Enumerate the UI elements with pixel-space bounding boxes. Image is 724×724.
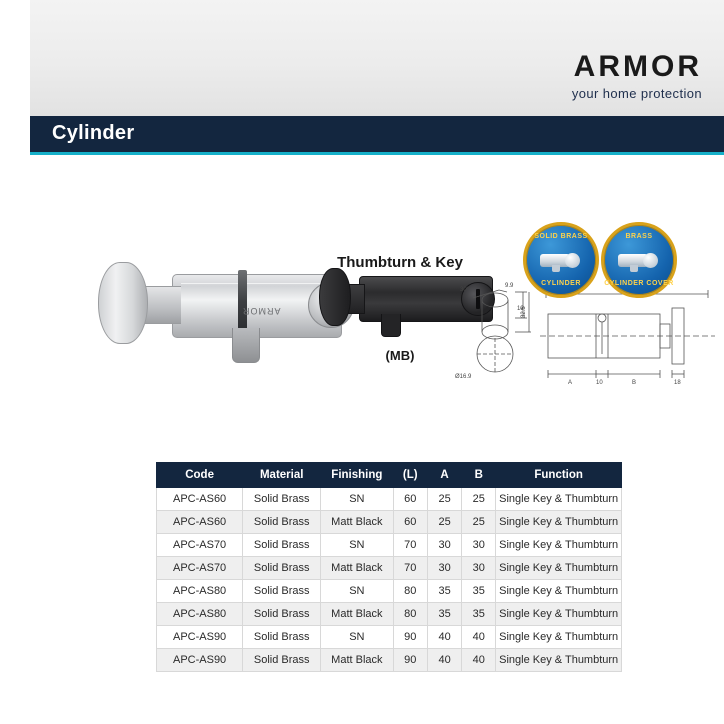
cell-function: Single Key & Thumbturn <box>496 534 622 557</box>
table-row: APC-AS90 Solid Brass SN 90 40 40 Single … <box>157 626 622 649</box>
cylinder-engraving: ARMOR <box>242 306 281 316</box>
cell-finishing: Matt Black <box>321 603 393 626</box>
cell-length: 70 <box>393 534 428 557</box>
technical-drawing-section: 30° 9.9 19 32.5 Ø16.9 <box>455 278 535 408</box>
cell-b: 25 <box>462 488 496 511</box>
cell-code: APC-AS70 <box>157 534 243 557</box>
cell-code: APC-AS60 <box>157 488 243 511</box>
thumbturn-knob-mb <box>319 268 351 326</box>
table-row: APC-AS70 Solid Brass Matt Black 70 30 30… <box>157 557 622 580</box>
thumbturn-knob <box>98 262 148 344</box>
table-row: APC-AS80 Solid Brass SN 80 35 35 Single … <box>157 580 622 603</box>
cell-a: 25 <box>428 511 462 534</box>
badge-top-text: BRASS <box>604 233 674 240</box>
badge-brass-cylinder-cover: BRASS CYLINDER COVER <box>601 222 677 298</box>
cell-material: Solid Brass <box>243 488 321 511</box>
cell-finishing: Matt Black <box>321 649 393 672</box>
cell-length: 80 <box>393 580 428 603</box>
column-header-material: Material <box>243 463 321 488</box>
cell-function: Single Key & Thumbturn <box>496 511 622 534</box>
cell-material: Solid Brass <box>243 534 321 557</box>
cell-b: 30 <box>462 557 496 580</box>
cell-function: Single Key & Thumbturn <box>496 626 622 649</box>
page-title: Cylinder <box>52 122 134 145</box>
cell-length: 90 <box>393 626 428 649</box>
dim-10: 10 <box>596 380 603 386</box>
cell-a: 40 <box>428 649 462 672</box>
table-row: APC-AS60 Solid Brass Matt Black 60 25 25… <box>157 511 622 534</box>
dim-32-5: 32.5 <box>521 306 527 318</box>
brand-name: ARMOR <box>572 52 702 82</box>
cell-a: 35 <box>428 580 462 603</box>
cell-code: APC-AS80 <box>157 580 243 603</box>
cell-finishing: SN <box>321 580 393 603</box>
dim-diameter: Ø16.9 <box>455 374 472 380</box>
table-header-row: Code Material Finishing (L) A B Function <box>157 463 622 488</box>
cell-finishing: Matt Black <box>321 557 393 580</box>
table-row: APC-AS60 Solid Brass SN 60 25 25 Single … <box>157 488 622 511</box>
cell-b: 25 <box>462 511 496 534</box>
cell-b: 35 <box>462 580 496 603</box>
cell-code: APC-AS80 <box>157 603 243 626</box>
cell-material: Solid Brass <box>243 557 321 580</box>
badge-bottom-text: CYLINDER COVER <box>604 280 674 287</box>
cell-material: Solid Brass <box>243 603 321 626</box>
dim-18: 18 <box>674 380 681 386</box>
table-row: APC-AS90 Solid Brass Matt Black 90 40 40… <box>157 649 622 672</box>
cell-a: 30 <box>428 534 462 557</box>
cell-b: 40 <box>462 649 496 672</box>
cylinder-cam-mb <box>381 314 401 337</box>
cell-function: Single Key & Thumbturn <box>496 580 622 603</box>
cell-a: 30 <box>428 557 462 580</box>
cell-finishing: SN <box>321 488 393 511</box>
header-left-white-margin <box>0 0 30 116</box>
title-bar-left-margin <box>0 116 30 152</box>
cell-length: 60 <box>393 488 428 511</box>
cell-length: 60 <box>393 511 428 534</box>
column-header-length: (L) <box>393 463 428 488</box>
cell-material: Solid Brass <box>243 511 321 534</box>
product-caption: Thumbturn & Key <box>272 254 528 271</box>
column-header-a: A <box>428 463 462 488</box>
cell-code: APC-AS70 <box>157 557 243 580</box>
cell-length: 70 <box>393 557 428 580</box>
brand-logo: ARMOR your home protection <box>572 52 702 101</box>
cell-function: Single Key & Thumbturn <box>496 603 622 626</box>
brand-tagline: your home protection <box>572 86 702 101</box>
cell-finishing: SN <box>321 626 393 649</box>
cell-function: Single Key & Thumbturn <box>496 649 622 672</box>
cell-length: 80 <box>393 603 428 626</box>
cell-code: APC-AS90 <box>157 649 243 672</box>
dim-angle: 30° <box>460 287 470 293</box>
dim-top: 9.9 <box>505 283 514 289</box>
cell-function: Single Key & Thumbturn <box>496 557 622 580</box>
cell-b: 35 <box>462 603 496 626</box>
cell-material: Solid Brass <box>243 649 321 672</box>
cell-a: 35 <box>428 603 462 626</box>
table-row: APC-AS70 Solid Brass SN 70 30 30 Single … <box>157 534 622 557</box>
cell-function: Single Key & Thumbturn <box>496 488 622 511</box>
column-header-code: Code <box>157 463 243 488</box>
cell-b: 40 <box>462 626 496 649</box>
cell-code: APC-AS60 <box>157 511 243 534</box>
specification-table: Code Material Finishing (L) A B Function… <box>156 462 622 672</box>
title-accent-left-margin <box>0 152 30 155</box>
column-header-finishing: Finishing <box>321 463 393 488</box>
cylinder-cam <box>232 328 260 363</box>
cell-a: 25 <box>428 488 462 511</box>
cell-material: Solid Brass <box>243 626 321 649</box>
cell-finishing: Matt Black <box>321 511 393 534</box>
cell-b: 30 <box>462 534 496 557</box>
cell-material: Solid Brass <box>243 580 321 603</box>
cylinder-icon <box>540 251 582 271</box>
cell-a: 40 <box>428 626 462 649</box>
product-stage: ARMOR (MB) <box>0 160 724 460</box>
title-accent-underline <box>30 152 724 155</box>
column-header-function: Function <box>496 463 622 488</box>
badge-bottom-text: CYLINDER <box>526 280 596 287</box>
cell-finishing: SN <box>321 534 393 557</box>
table-row: APC-AS80 Solid Brass Matt Black 80 35 35… <box>157 603 622 626</box>
specification-table-wrapper: Code Material Finishing (L) A B Function… <box>156 462 622 672</box>
dim-B: B <box>632 380 636 386</box>
cell-length: 90 <box>393 649 428 672</box>
badge-top-text: SOLID BRASS <box>526 233 596 240</box>
cylinder-cover-icon <box>618 251 660 271</box>
badge-solid-brass-cylinder: SOLID BRASS CYLINDER <box>523 222 599 298</box>
cell-code: APC-AS90 <box>157 626 243 649</box>
column-header-b: B <box>462 463 496 488</box>
dim-A: A <box>568 380 572 386</box>
